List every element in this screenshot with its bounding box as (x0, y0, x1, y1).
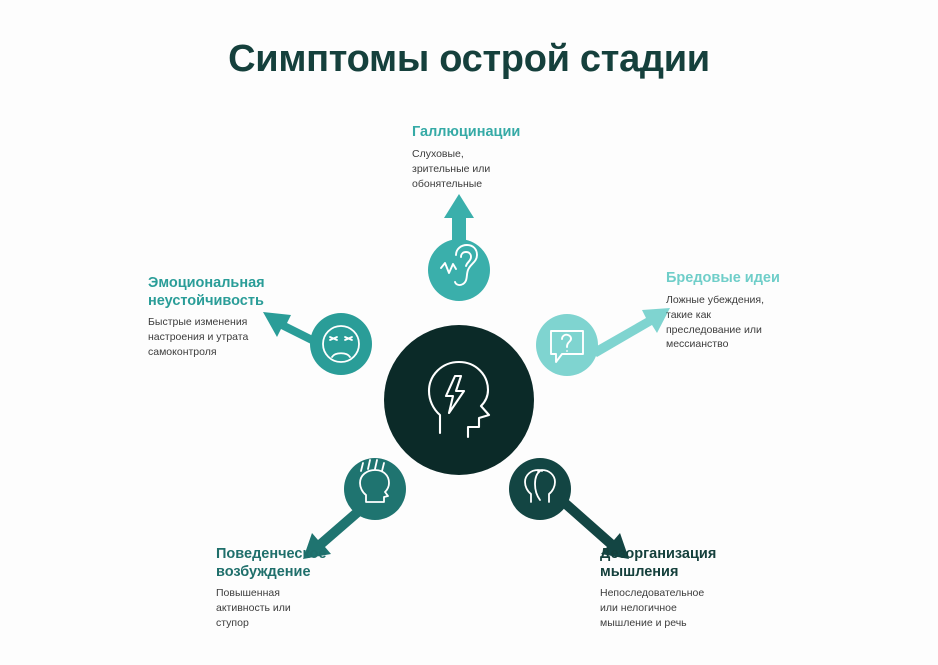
node-delusional-ideas[interactable] (536, 314, 598, 376)
description-delusional-ideas: Ложные убеждения, такие как преследовани… (666, 293, 826, 353)
label-hallucinations: Галлюцинации Слуховые, зрительные или об… (412, 124, 592, 191)
label-disorganized-thinking: Дезорганизация мышления Непоследовательн… (600, 546, 760, 631)
node-emotional-instability[interactable] (310, 313, 372, 375)
heading-hallucinations: Галлюцинации (412, 124, 592, 142)
heading-emotional-instability: Эмоциональная неустойчивость (148, 275, 280, 310)
node-behavioral-agitation[interactable] (344, 458, 406, 520)
description-emotional-instability: Быстрые изменения настроения и утрата са… (148, 315, 280, 360)
infographic-canvas: Симптомы острой стадии (0, 0, 938, 665)
description-hallucinations: Слуховые, зрительные или обонятельные (412, 147, 592, 192)
description-behavioral-agitation: Повышенная активность или ступор (216, 586, 366, 631)
arrow-delusional-ideas (590, 308, 670, 357)
label-emotional-instability: Эмоциональная неустойчивость Быстрые изм… (148, 275, 280, 360)
description-disorganized-thinking: Непоследовательное или нелогичное мышлен… (600, 586, 760, 631)
heading-disorganized-thinking: Дезорганизация мышления (600, 546, 760, 581)
heading-delusional-ideas: Бредовые идеи (666, 270, 826, 288)
heading-behavioral-agitation: Поведенческое возбуждение (216, 546, 366, 581)
node-hallucinations[interactable] (428, 239, 490, 301)
label-behavioral-agitation: Поведенческое возбуждение Повышенная акт… (216, 546, 366, 631)
label-delusional-ideas: Бредовые идеи Ложные убеждения, такие ка… (666, 270, 826, 352)
node-disorganized-thinking[interactable] (509, 458, 571, 520)
center-node (384, 325, 534, 475)
